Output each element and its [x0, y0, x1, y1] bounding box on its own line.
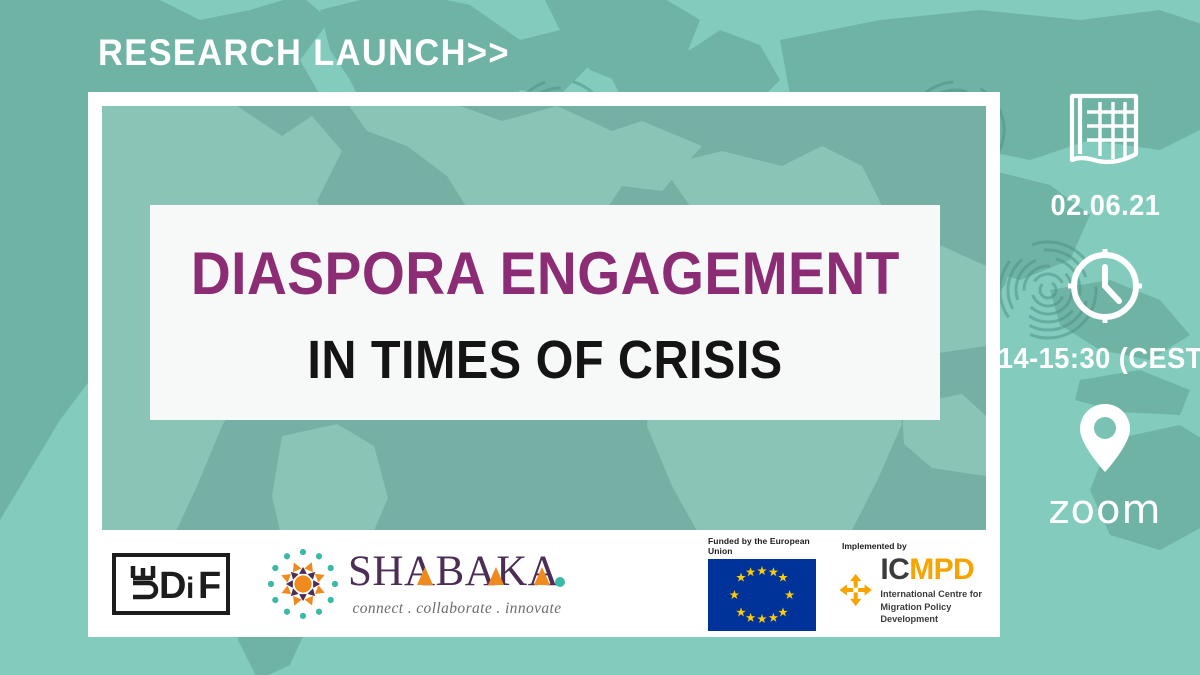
logo-bar: D i F	[102, 530, 986, 637]
svg-text:F: F	[198, 565, 221, 607]
shabaka-tagline: connect . collaborate . innovate	[352, 600, 561, 618]
sunburst-icon	[264, 545, 342, 623]
map-pin-icon	[1075, 400, 1135, 476]
clock-icon	[1064, 245, 1146, 327]
shabaka-letters: SHABAKA	[348, 549, 559, 595]
calendar-icon	[1064, 90, 1146, 174]
event-date: 02.06.21	[1050, 190, 1160, 223]
icmpd-acronym: ICMPD	[880, 555, 986, 585]
eu-funding-caption: Funded by the European Union	[708, 536, 816, 556]
kicker-text: RESEARCH LAUNCH>>	[98, 32, 510, 74]
svg-text:i: i	[186, 572, 194, 605]
icmpd-implemented-caption: Implemented by	[842, 541, 907, 551]
event-details-rail: 02.06.21 14-15:30 (CEST)	[1010, 90, 1200, 590]
shabaka-logo[interactable]: SHABAKA connect . collaborate . innovate	[264, 545, 566, 623]
eu-flag-icon	[708, 559, 816, 631]
eudif-logo[interactable]: D i F	[112, 553, 230, 615]
icmpd-subtitle-line1: International Centre for	[880, 588, 986, 600]
icmpd-acronym-mpd: MPD	[909, 553, 974, 586]
icmpd-logo[interactable]: Implemented by ICMPD International Centr…	[838, 541, 986, 625]
shabaka-wordmark: SHABAKA	[348, 549, 566, 595]
european-union-logo[interactable]: Funded by the European Union	[708, 536, 816, 631]
icmpd-acronym-ic: IC	[880, 553, 909, 586]
svg-text:D: D	[159, 565, 185, 607]
page-title-secondary: IN TIMES OF CRISIS	[307, 329, 782, 391]
icmpd-subtitle-line2: Migration Policy Development	[880, 601, 986, 626]
event-location: zoom	[1049, 490, 1162, 530]
title-card: DIASPORA ENGAGEMENT IN TIMES OF CRISIS	[150, 205, 940, 420]
event-poster: RESEARCH LAUNCH>> DIASPORA ENGAGEMENT IN…	[0, 0, 1200, 675]
page-title-primary: DIASPORA ENGAGEMENT	[190, 240, 899, 307]
four-way-arrow-icon	[838, 568, 873, 612]
event-time: 14-15:30 (CEST)	[998, 343, 1200, 376]
